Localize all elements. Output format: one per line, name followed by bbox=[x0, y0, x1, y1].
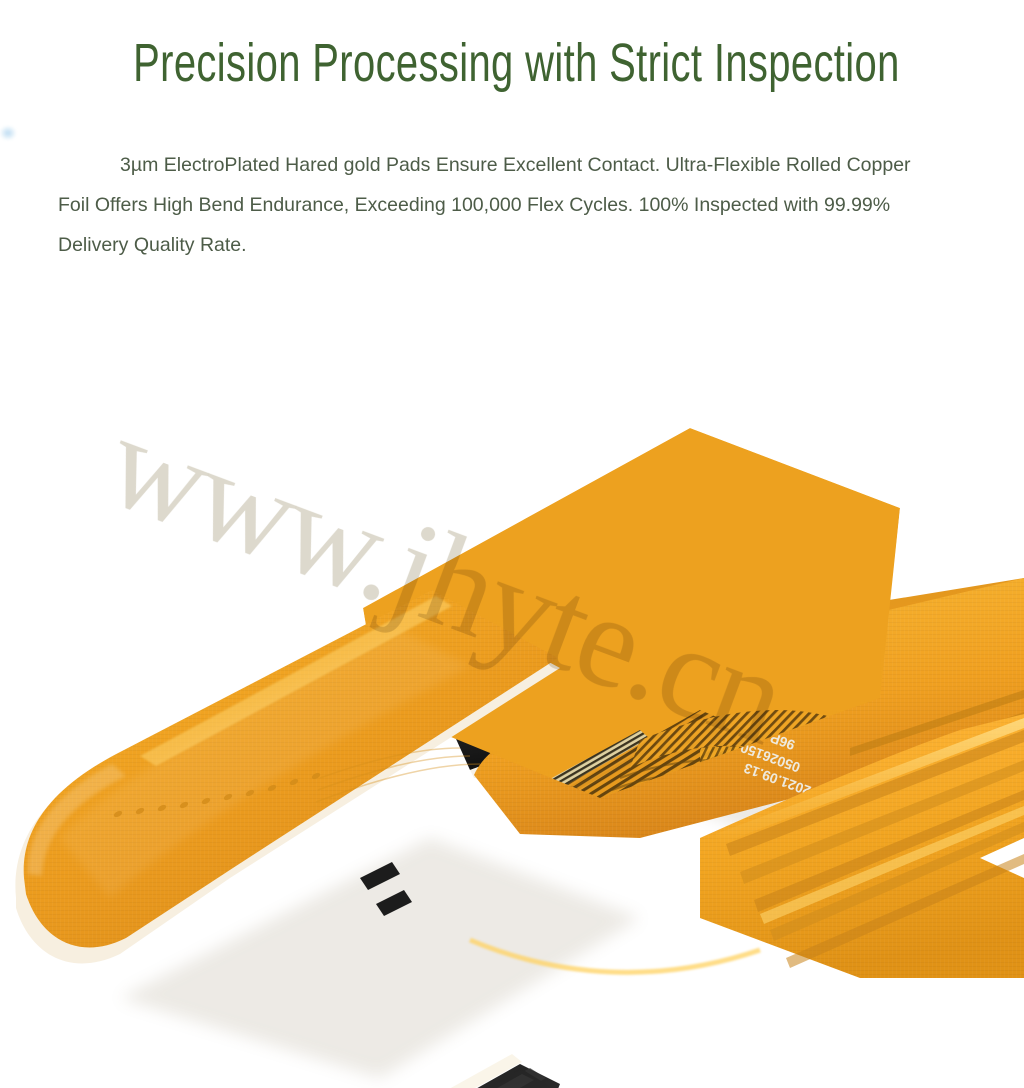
description-line-1: 3µm ElectroPlated Hared gold Pads Ensure… bbox=[58, 145, 974, 185]
description-line-3: Delivery Quality Rate. bbox=[58, 225, 974, 265]
product-detail-page: Precision Processing with Strict Inspect… bbox=[0, 0, 1024, 1088]
product-photo: OC 96P _A1.0 05026150 2021.09.13 bbox=[0, 278, 1024, 1088]
description-paragraph: 3µm ElectroPlated Hared gold Pads Ensure… bbox=[58, 145, 974, 265]
header-block: Precision Processing with Strict Inspect… bbox=[0, 0, 1024, 280]
description-line-2: Foil Offers High Bend Endurance, Exceedi… bbox=[58, 185, 974, 225]
background-artifact bbox=[0, 126, 16, 140]
fpc-illustration: OC 96P _A1.0 05026150 2021.09.13 bbox=[0, 278, 1024, 1088]
page-title: Precision Processing with Strict Inspect… bbox=[133, 34, 891, 92]
